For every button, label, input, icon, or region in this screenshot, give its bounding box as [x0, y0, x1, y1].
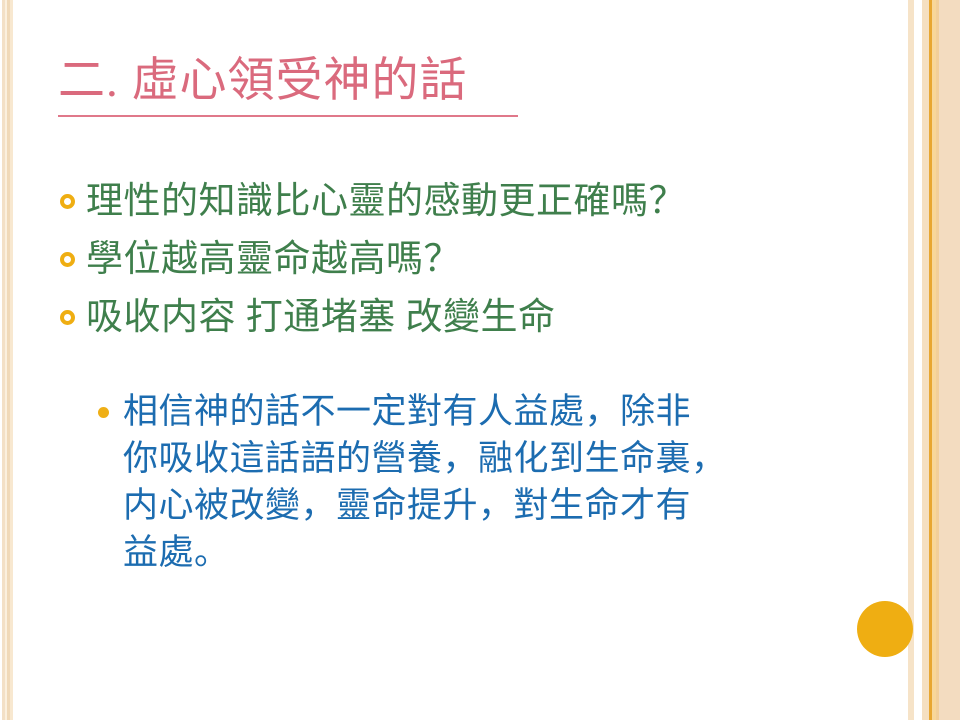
dot-bullet-icon	[98, 407, 109, 418]
level1-item-label: 理性的知識比心靈的感動更正確嗎？	[86, 174, 686, 230]
ring-bullet-icon	[60, 194, 75, 209]
ring-bullet-icon	[60, 252, 75, 267]
right-stripe-2	[914, 0, 922, 720]
level1-item-label: 吸收内容 打通堵塞 改變生命	[86, 290, 556, 346]
title-underline	[58, 115, 518, 117]
gold-circle-accent	[857, 601, 913, 657]
list-item: 學位越高靈命越高嗎？	[60, 232, 860, 288]
level1-item-label: 學位越高靈命越高嗎？	[86, 232, 461, 288]
level2-text-lines: 相信神的話不一定對有人益處，除非 你吸收這話語的營養，融化到生命裏， 内心被改變…	[123, 388, 858, 576]
level2-line: 益處。	[123, 529, 858, 576]
level2-bullet-block: 相信神的話不一定對有人益處，除非 你吸收這話語的營養，融化到生命裏， 内心被改變…	[98, 388, 858, 576]
right-border-decoration	[908, 0, 960, 720]
level2-line: 相信神的話不一定對有人益處，除非	[123, 388, 858, 435]
page-title: 二. 虛心領受神的話	[58, 56, 528, 113]
right-stripe-3	[922, 0, 929, 720]
list-item: 吸收内容 打通堵塞 改變生命	[60, 290, 860, 346]
level1-bullet-list: 理性的知識比心靈的感動更正確嗎？ 學位越高靈命越高嗎？ 吸收内容 打通堵塞 改變…	[60, 174, 860, 348]
level2-line: 你吸收這話語的營養，融化到生命裏，	[123, 435, 858, 482]
presentation-slide: 二. 虛心領受神的話 理性的知識比心靈的感動更正確嗎？ 學位越高靈命越高嗎？ 吸…	[0, 0, 960, 720]
right-stripe-7	[939, 0, 960, 720]
left-stripe-4	[10, 0, 13, 720]
list-item: 理性的知識比心靈的感動更正確嗎？	[60, 174, 860, 230]
left-border-decoration	[0, 0, 16, 720]
level2-line: 内心被改變，靈命提升，對生命才有	[123, 482, 858, 529]
slide-title-block: 二. 虛心領受神的話	[58, 56, 528, 117]
ring-bullet-icon	[60, 310, 75, 325]
